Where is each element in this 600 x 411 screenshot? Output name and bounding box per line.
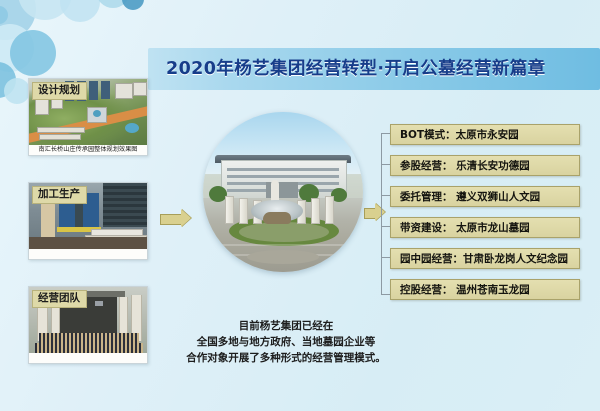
decorative-bubble-icon	[122, 0, 144, 10]
card-team-caption	[29, 353, 147, 363]
cemetery-plaza-photo	[203, 112, 363, 272]
card-design-caption: 南汇长桥山庄传承园整体规划效果图	[29, 145, 147, 155]
card-process-caption	[29, 249, 147, 259]
summary-line: 目前杨艺集团已经在	[180, 318, 392, 334]
poster-canvas: 2020年杨艺集团经营转型·开启公墓经营新篇章 南汇长桥山庄传承园整体规划效果图…	[0, 0, 600, 411]
decorative-bubble-icon	[60, 0, 100, 22]
decorative-bubble-icon	[10, 30, 56, 76]
mode-bracket-tick	[381, 226, 390, 227]
card-team[interactable]: 经营团队	[28, 286, 148, 364]
mode-bracket-tick	[381, 257, 390, 258]
mode-item-equity[interactable]: 参股经营： 乐清长安功德园	[390, 155, 580, 176]
mode-bracket-tick	[381, 195, 390, 196]
decorative-bubble-icon	[96, 0, 130, 8]
mode-bracket-tick	[381, 164, 390, 165]
decorative-bubble-icon	[0, 24, 34, 72]
decorative-bubble-icon	[18, 0, 72, 20]
card-design-planning[interactable]: 南汇长桥山庄传承园整体规划效果图 设计规划	[28, 78, 148, 156]
mode-item-entrusted[interactable]: 委托管理： 遵义双狮山人文园	[390, 186, 580, 207]
mode-item-funded[interactable]: 带资建设： 太原市龙山墓园	[390, 217, 580, 238]
card-processing[interactable]: 加工生产	[28, 182, 148, 260]
mode-item-park-in-park[interactable]: 园中园经营：甘肃卧龙岗人文纪念园	[390, 248, 580, 269]
summary-paragraph: 目前杨艺集团已经在 全国多地与地方政府、当地墓园企业等 合作对象开展了多种形式的…	[180, 318, 392, 366]
card-process-tag: 加工生产	[32, 186, 87, 204]
mode-item-holding[interactable]: 控股经营： 温州苍南玉龙园	[390, 279, 580, 300]
summary-line: 全国多地与地方政府、当地墓园企业等	[180, 334, 392, 350]
decorative-bubble-icon	[4, 78, 30, 104]
card-design-tag: 设计规划	[32, 82, 87, 100]
summary-line: 合作对象开展了多种形式的经营管理模式。	[180, 350, 392, 366]
decorative-bubble-icon	[0, 62, 16, 98]
decorative-bubble-icon	[0, 6, 8, 24]
decorative-bubble-icon	[0, 0, 36, 40]
mode-item-bot[interactable]: BOT模式：太原市永安园	[390, 124, 580, 145]
card-team-tag: 经营团队	[32, 290, 87, 308]
page-title: 2020年杨艺集团经营转型·开启公墓经营新篇章	[166, 54, 586, 84]
